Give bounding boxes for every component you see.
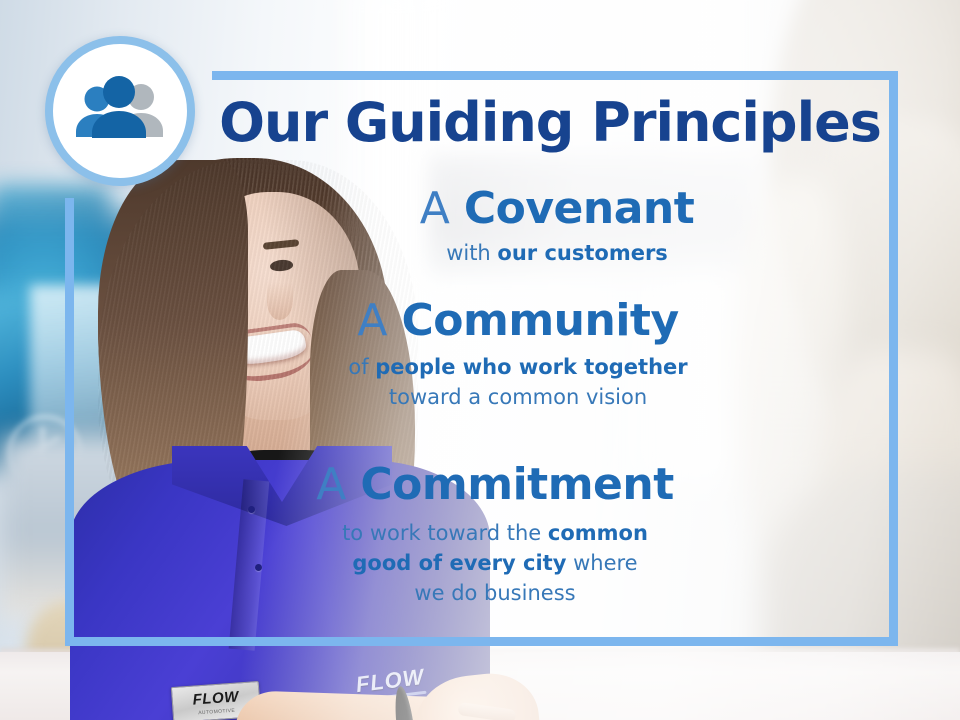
- employee-figure: FLOW AUTOMOTIVE FLOW: [60, 150, 480, 720]
- employee-shirt-button: [255, 564, 262, 571]
- guiding-principles-poster: FLOW AUTOMOTIVE FLOW: [0, 0, 960, 720]
- employee-shirt-button: [248, 506, 255, 513]
- people-group-icon: [70, 75, 170, 147]
- people-group-badge: [45, 36, 195, 186]
